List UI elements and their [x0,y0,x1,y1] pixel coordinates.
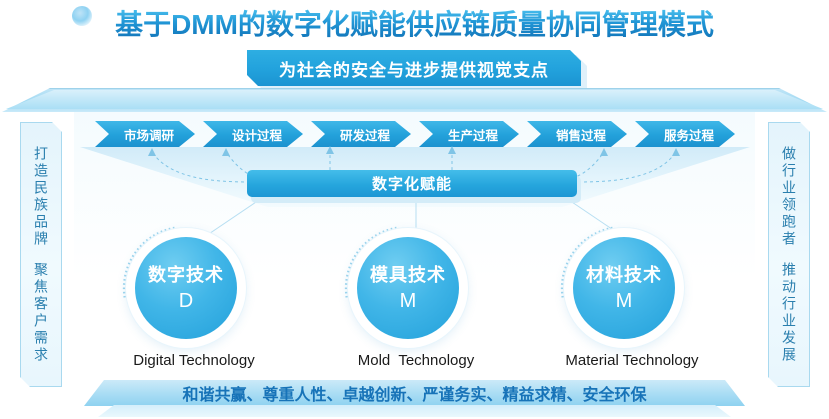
side-panel-right-line1: 做行业领跑者 [782,146,796,248]
infographic-slide: 基于DMM的数字化赋能供应链质量协同管理模式 为社会的安全与进步提供视觉支点 市… [0,0,829,419]
side-panel-right-line2: 推动行业发展 [782,262,796,364]
side-panel-left-line2: 聚焦客户需求 [34,262,48,364]
top-banner-inner-shape [6,90,823,109]
circle-inner-disc: 数字技术 D [135,237,237,339]
subtitle-ribbon: 为社会的安全与进步提供视觉支点 [247,50,587,90]
circle-label-cn: 材料技术 [586,263,662,287]
circle-caption: Material Technology [532,352,732,369]
side-panel-left: 打造民族品牌 聚焦客户需求 [20,122,62,387]
technology-circle-digital: 数字技术 D Digital Technology [94,228,294,358]
technology-circle-mold: 模具技术 M Mold Technology [316,228,516,358]
circle-inner-disc: 材料技术 M [573,237,675,339]
side-panel-right: 做行业领跑者 推动行业发展 [768,122,810,387]
subtitle-text: 为社会的安全与进步提供视觉支点 [247,50,581,86]
process-step-4[interactable]: 生产过程 [419,121,519,147]
circle-label-cn: 模具技术 [370,263,446,287]
process-step-5[interactable]: 销售过程 [527,121,627,147]
circle-inner-disc: 模具技术 M [357,237,459,339]
circle-caption: Digital Technology [94,352,294,369]
page-title: 基于DMM的数字化赋能供应链质量协同管理模式 [0,8,829,42]
footer-banner-base [98,405,731,417]
circle-label-letter: M [616,288,633,314]
circle-label-letter: M [400,288,417,314]
process-step-3[interactable]: 研发过程 [311,121,411,147]
side-panel-left-line1: 打造民族品牌 [34,146,48,248]
process-chevron-row: 市场调研设计过程研发过程生产过程销售过程服务过程 [95,121,735,147]
circle-label-cn: 数字技术 [148,263,224,287]
enablement-box: 数字化赋能 [247,170,577,197]
circle-caption: Mold Technology [316,352,516,369]
footer-slogan: 和谐共赢、尊重人性、卓越创新、严谨务实、精益求精、安全环保 [84,381,745,405]
process-step-6[interactable]: 服务过程 [635,121,735,147]
process-step-2[interactable]: 设计过程 [203,121,303,147]
technology-circle-material: 材料技术 M Material Technology [532,228,732,358]
circle-label-letter: D [179,288,193,314]
process-step-1[interactable]: 市场调研 [95,121,195,147]
